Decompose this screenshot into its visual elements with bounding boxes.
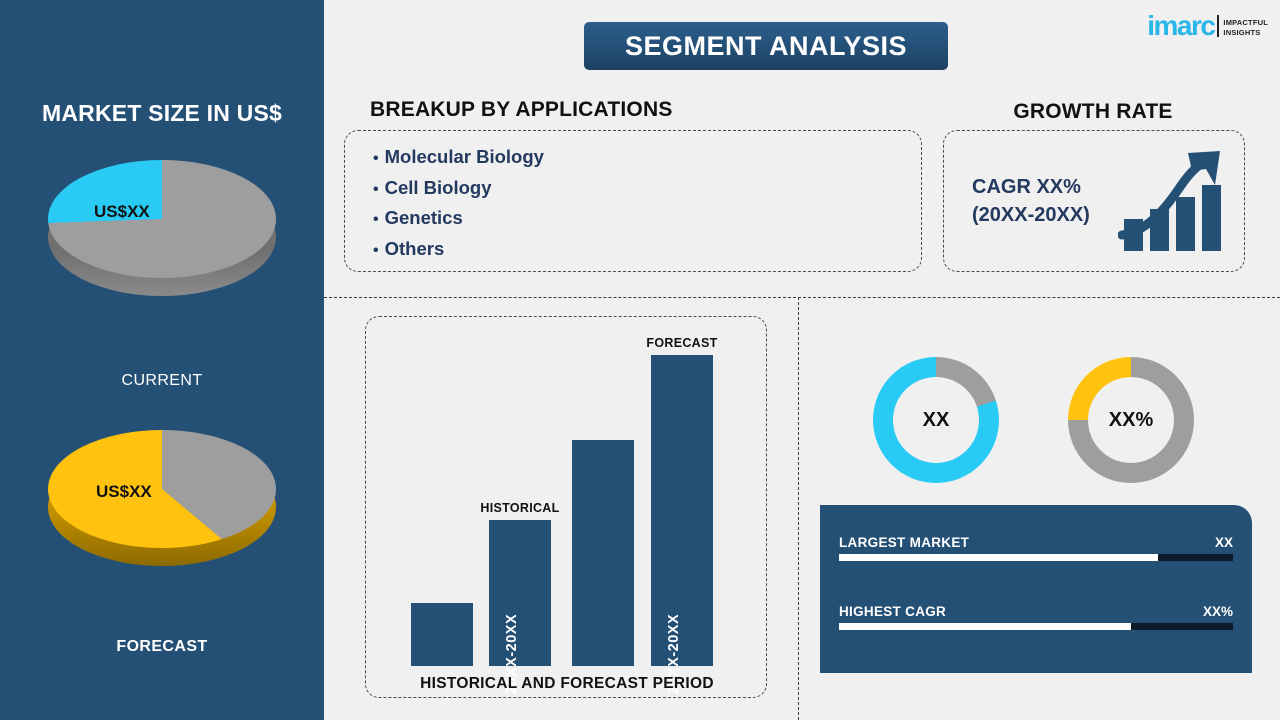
stat-label: LARGEST MARKET: [839, 535, 969, 550]
bar-1: [411, 603, 473, 666]
forecast-market-size-block: US$XX FORECAST: [0, 430, 324, 656]
applications-list: •Molecular Biology •Cell Biology •Geneti…: [373, 143, 544, 265]
applications-heading: BREAKUP BY APPLICATIONS: [370, 98, 673, 122]
page-title-banner: SEGMENT ANALYSIS: [584, 22, 948, 70]
stat-progress-track: [839, 554, 1233, 561]
stat-value: XX%: [1203, 604, 1233, 619]
sidebar-title: MARKET SIZE IN US$: [0, 100, 324, 127]
current-market-size-block: US$XX CURRENT: [0, 160, 324, 390]
imarc-logo-tagline: IMPACTFUL INSIGHTS: [1223, 18, 1268, 38]
forecast-pie-chart: US$XX: [48, 430, 276, 582]
list-item-label: Molecular Biology: [385, 146, 544, 167]
logo-divider: [1217, 15, 1219, 37]
growth-rate-heading: GROWTH RATE: [943, 100, 1243, 124]
period-bar-chart: 20XX-20XX HISTORICAL 20XX-20XX FORECAST …: [366, 317, 768, 699]
list-item: •Cell Biology: [373, 174, 544, 205]
highest-cagr-donut: XX%: [1068, 357, 1194, 483]
donut-value: XX: [923, 409, 950, 432]
applications-card: •Molecular Biology •Cell Biology •Geneti…: [344, 130, 922, 272]
list-item-label: Genetics: [385, 207, 463, 228]
forecast-label: FORECAST: [636, 336, 728, 350]
current-pie-value: US$XX: [94, 202, 150, 222]
forecast-pie-caption: FORECAST: [0, 638, 324, 656]
stat-row: HIGHEST CAGR XX%: [839, 599, 1233, 630]
growth-arrow-bars-icon: [1118, 149, 1226, 255]
current-pie-chart: US$XX: [48, 160, 276, 312]
list-item: •Genetics: [373, 204, 544, 235]
cagr-text: CAGR XX% (20XX-20XX): [972, 173, 1090, 229]
page-title: SEGMENT ANALYSIS: [625, 31, 907, 62]
stat-progress-fill: [839, 623, 1131, 630]
stat-value: XX: [1215, 535, 1233, 550]
barchart-axis-label: HISTORICAL AND FORECAST PERIOD: [366, 675, 768, 693]
segment-analysis-infographic: MARKET SIZE IN US$ US$XX CURRENT US$XX F…: [0, 0, 1280, 720]
cagr-line-1: CAGR XX%: [972, 173, 1090, 201]
list-item: •Molecular Biology: [373, 143, 544, 174]
stat-header: LARGEST MARKET XX: [839, 530, 1233, 550]
current-pie-caption: CURRENT: [0, 372, 324, 390]
bullet-icon: •: [373, 181, 379, 198]
market-stats-panel: LARGEST MARKET XX HIGHEST CAGR XX%: [820, 505, 1252, 673]
tagline-line-1: IMPACTFUL: [1223, 18, 1268, 27]
cagr-line-2: (20XX-20XX): [972, 201, 1090, 229]
bar-3: [572, 440, 634, 666]
stat-progress-fill: [839, 554, 1158, 561]
largest-market-donut: XX: [873, 357, 999, 483]
horizontal-divider: [324, 297, 1280, 298]
donut-center: XX: [893, 377, 979, 463]
bullet-icon: •: [373, 211, 379, 228]
tagline-line-2: INSIGHTS: [1223, 28, 1260, 37]
imarc-logo: imarc IMPACTFUL INSIGHTS: [1147, 14, 1268, 38]
forecast-pie-value: US$XX: [96, 482, 152, 502]
bar-2: 20XX-20XX: [489, 520, 551, 666]
stat-row: LARGEST MARKET XX: [839, 530, 1233, 561]
pie-3d-top: [48, 430, 276, 548]
list-item-label: Others: [385, 238, 445, 259]
list-item-label: Cell Biology: [385, 177, 492, 198]
growth-rate-card: CAGR XX% (20XX-20XX): [943, 130, 1245, 272]
bar-4: 20XX-20XX: [651, 355, 713, 666]
vertical-divider: [798, 297, 799, 720]
bullet-icon: •: [373, 150, 379, 167]
imarc-logo-wordmark: imarc: [1147, 14, 1214, 38]
stat-header: HIGHEST CAGR XX%: [839, 599, 1233, 619]
list-item: •Others: [373, 235, 544, 266]
donut-center: XX%: [1088, 377, 1174, 463]
stat-progress-track: [839, 623, 1233, 630]
historical-label: HISTORICAL: [474, 501, 566, 515]
period-barchart-card: 20XX-20XX HISTORICAL 20XX-20XX FORECAST …: [365, 316, 767, 698]
market-size-sidebar: MARKET SIZE IN US$ US$XX CURRENT US$XX F…: [0, 0, 324, 720]
pie-3d-top: [48, 160, 276, 278]
donut-value: XX%: [1109, 409, 1153, 432]
bullet-icon: •: [373, 242, 379, 259]
stat-label: HIGHEST CAGR: [839, 604, 946, 619]
